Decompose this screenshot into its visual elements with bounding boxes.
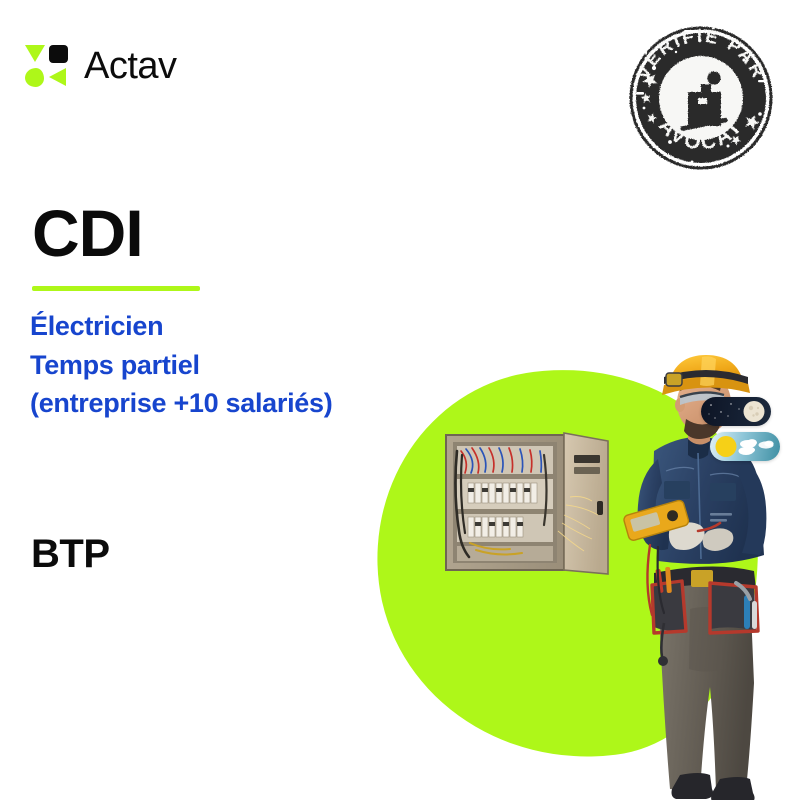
triangle-down-icon — [25, 45, 45, 62]
brand-logo[interactable]: Actav — [24, 43, 177, 89]
sun-icon — [716, 436, 737, 457]
badge-night[interactable] — [701, 397, 771, 426]
sector-label: BTP — [31, 534, 110, 574]
lawyer-verified-stamp: VÉRIFIÉ PAR AVOCAT — [624, 22, 778, 174]
accent-rule — [32, 286, 200, 291]
actav-logo-mark-icon — [24, 43, 70, 89]
stars-icon — [709, 403, 740, 418]
triangle-left-icon — [49, 68, 66, 86]
moon-icon — [744, 401, 765, 422]
cloud-icon — [739, 439, 774, 455]
blob-circle-icon — [25, 68, 44, 87]
job-posting-card: Actav — [0, 0, 800, 800]
illustration — [358, 355, 800, 800]
brand-name: Actav — [84, 47, 177, 85]
weather-badges — [701, 397, 787, 461]
contract-type-heading: CDI — [32, 200, 143, 266]
badge-day[interactable] — [710, 432, 780, 461]
rounded-square-icon — [49, 45, 68, 63]
job-title: Électricien — [30, 307, 500, 346]
electrical-panel-icon — [446, 433, 608, 574]
